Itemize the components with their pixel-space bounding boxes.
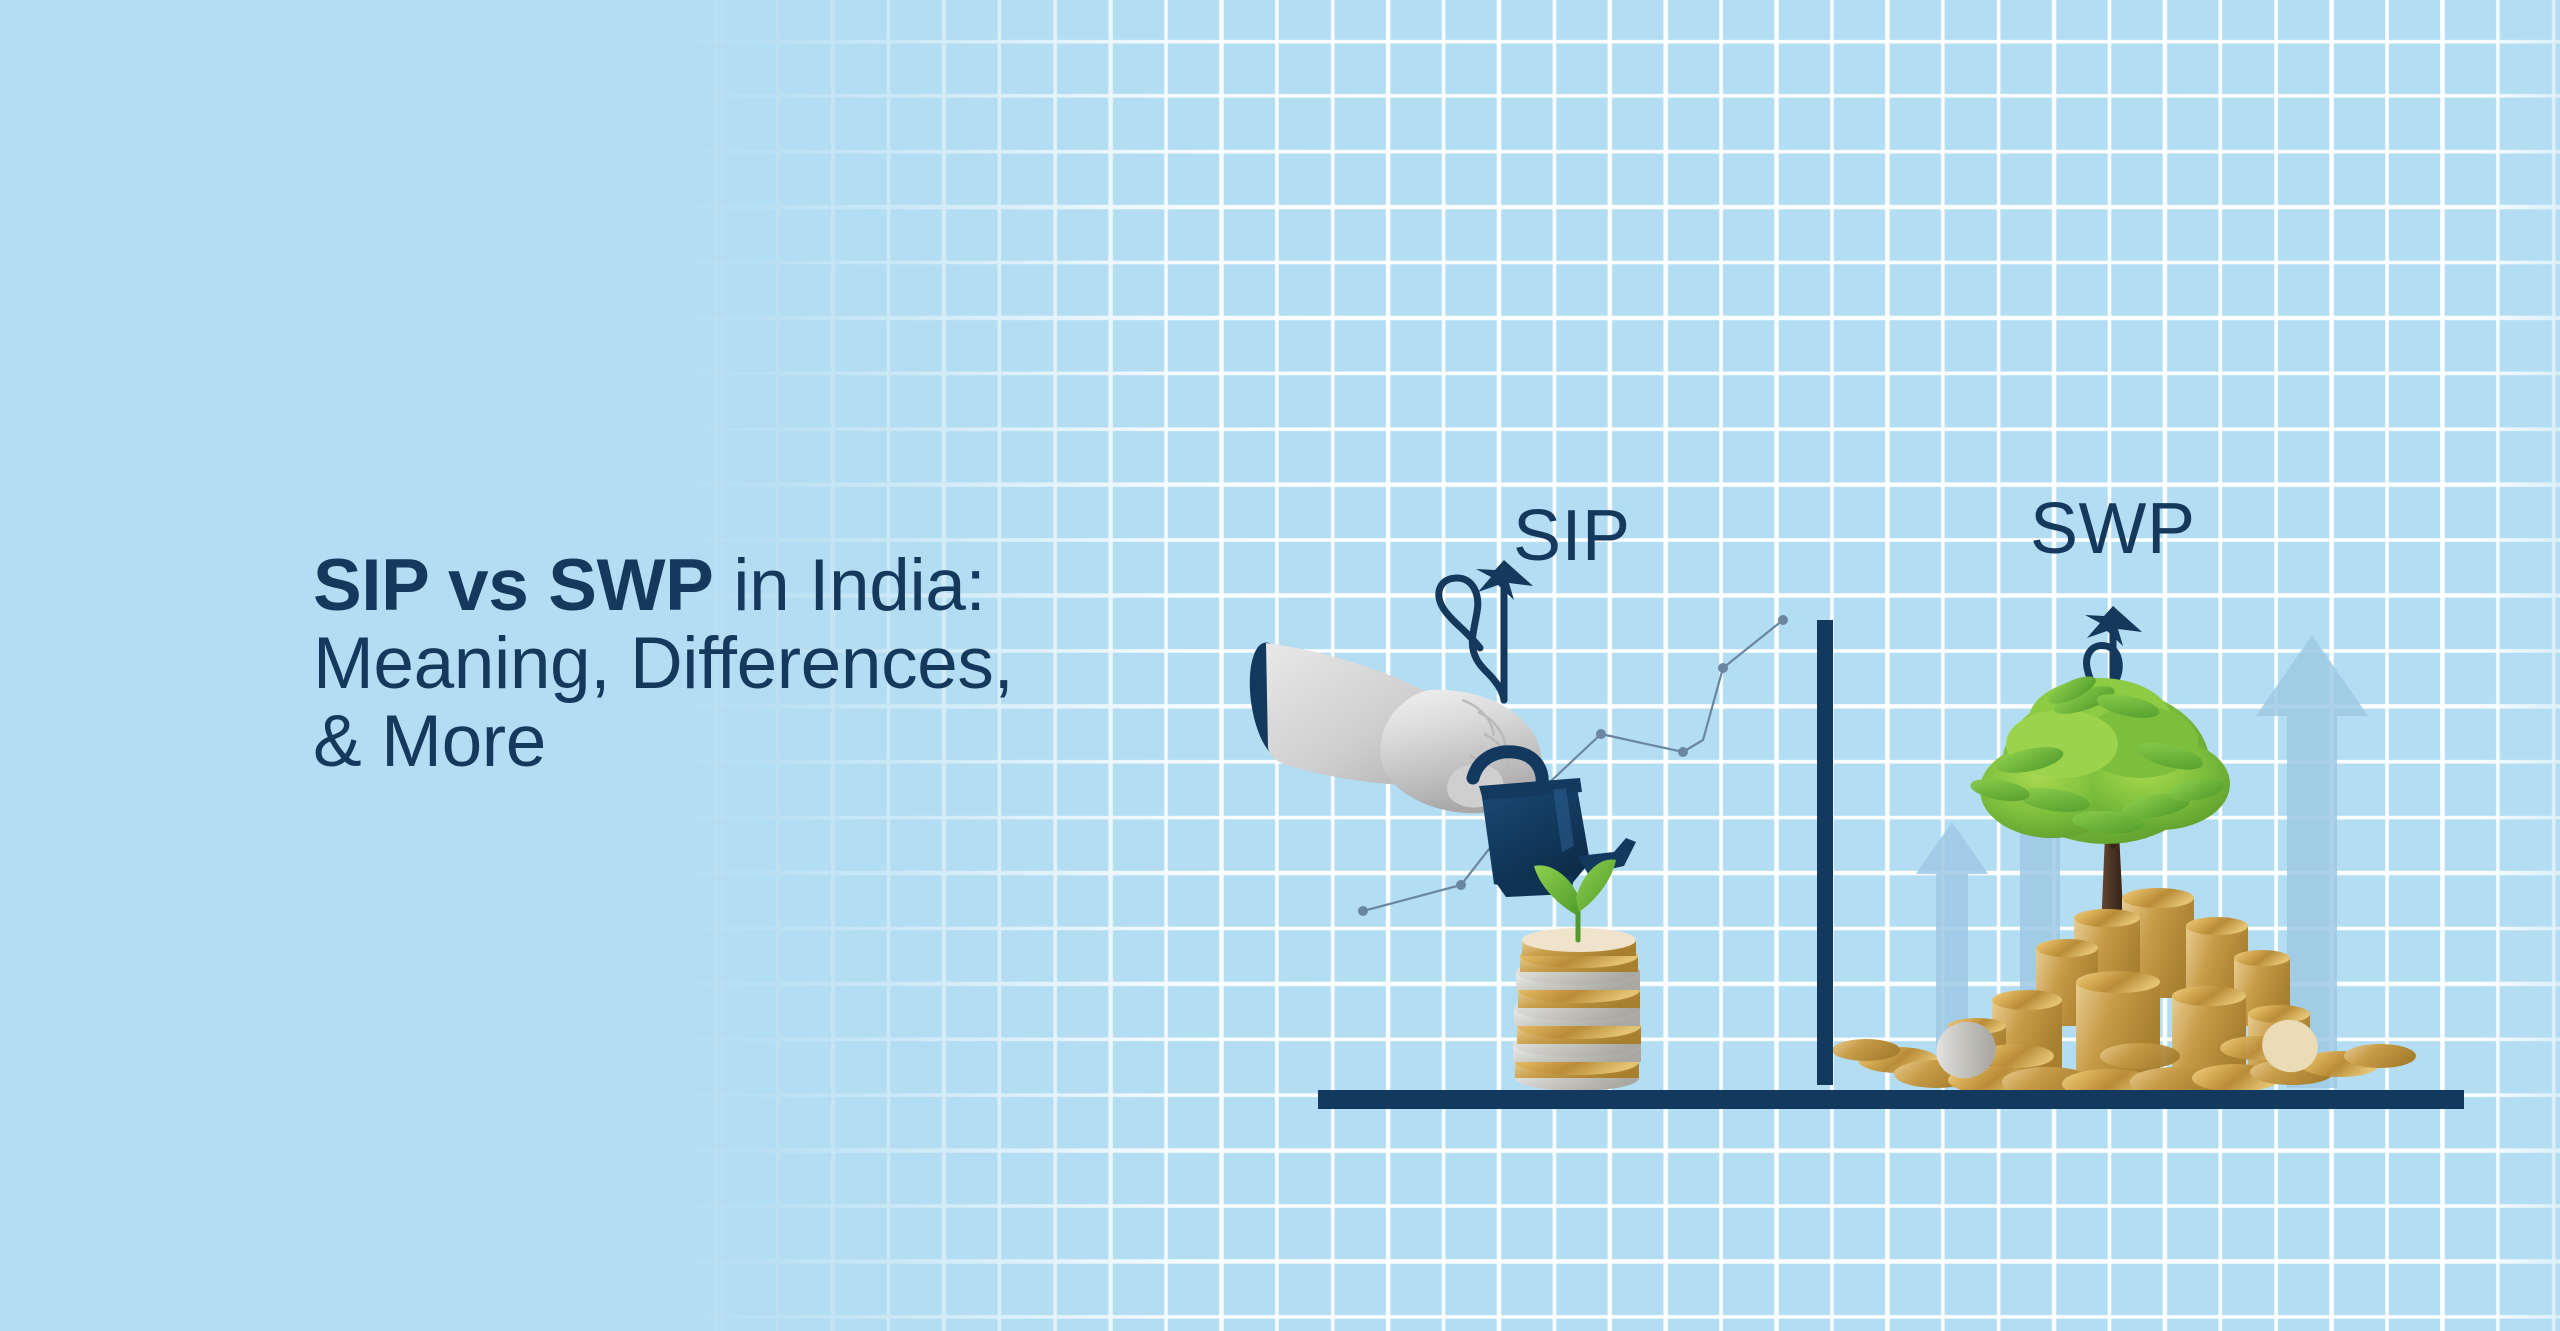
can-body bbox=[1481, 782, 1590, 890]
can-handle bbox=[1473, 752, 1542, 786]
coin-pile-mid-stacks bbox=[1948, 971, 2310, 1074]
headline-line-1: SIP vs SWP in India: bbox=[313, 547, 1233, 625]
line-chart-markers bbox=[1358, 615, 1788, 916]
can-spout bbox=[1578, 838, 1636, 874]
can-highlight bbox=[1553, 788, 1574, 852]
headline-rest-part: in India: bbox=[713, 545, 985, 626]
swp-tree-and-coins bbox=[1832, 671, 2416, 1099]
page-title: SIP vs SWP in India: Meaning, Difference… bbox=[313, 547, 1233, 781]
knuckle-lines bbox=[1462, 700, 1508, 792]
sprout-leaf-left bbox=[1534, 865, 1580, 916]
headline-line-3: & More bbox=[313, 703, 1233, 781]
headline-bold-part: SIP vs SWP bbox=[313, 545, 713, 626]
watering-can-icon bbox=[1473, 752, 1636, 897]
large-arrow-icon bbox=[2256, 635, 2368, 1088]
line-chart-render bbox=[1363, 620, 1783, 911]
small-arrow-icon bbox=[1916, 822, 1988, 1088]
can-base bbox=[1494, 876, 1575, 897]
coin-stack-coins bbox=[1513, 928, 1641, 1091]
vertical-divider bbox=[1817, 620, 1833, 1085]
fist bbox=[1380, 690, 1541, 813]
medium-arrow-icon bbox=[1995, 718, 2085, 1088]
sleeve-cuff bbox=[1243, 640, 1303, 761]
swp-label: SWP bbox=[2030, 493, 2196, 565]
growth-arrow-group bbox=[1916, 635, 2368, 1088]
sip-curly-arrow-icon bbox=[1439, 575, 1504, 700]
tree-trunk-icon bbox=[2100, 812, 2125, 952]
sprout-icon bbox=[1534, 859, 1616, 940]
coin-pile-icon bbox=[1832, 888, 2416, 1099]
horizontal-baseline bbox=[1318, 1090, 2464, 1109]
sip-coin-stack-icon bbox=[1513, 859, 1641, 1091]
forearm bbox=[1266, 643, 1478, 785]
coin-pile-scatter bbox=[1832, 1013, 2416, 1099]
headline-line-2: Meaning, Differences, bbox=[313, 625, 1233, 703]
sip-line-chart bbox=[1358, 615, 1788, 916]
hand-holding-icon bbox=[1243, 640, 1541, 814]
tree-foliage-icon bbox=[1969, 671, 2230, 844]
coin-pile-back-stacks bbox=[2036, 888, 2290, 1026]
can-rim bbox=[1479, 778, 1582, 800]
sprout-leaf-right bbox=[1576, 859, 1616, 912]
sip-vs-swp-banner: SIP vs SWP in India: Meaning, Difference… bbox=[0, 0, 2560, 1331]
swp-curly-arrow-icon bbox=[2087, 626, 2122, 766]
tree-trunk-branch bbox=[2090, 810, 2116, 850]
swp-arrow-head-icon bbox=[2085, 606, 2142, 646]
thumb bbox=[1447, 764, 1503, 808]
sip-label: SIP bbox=[1513, 500, 1631, 572]
